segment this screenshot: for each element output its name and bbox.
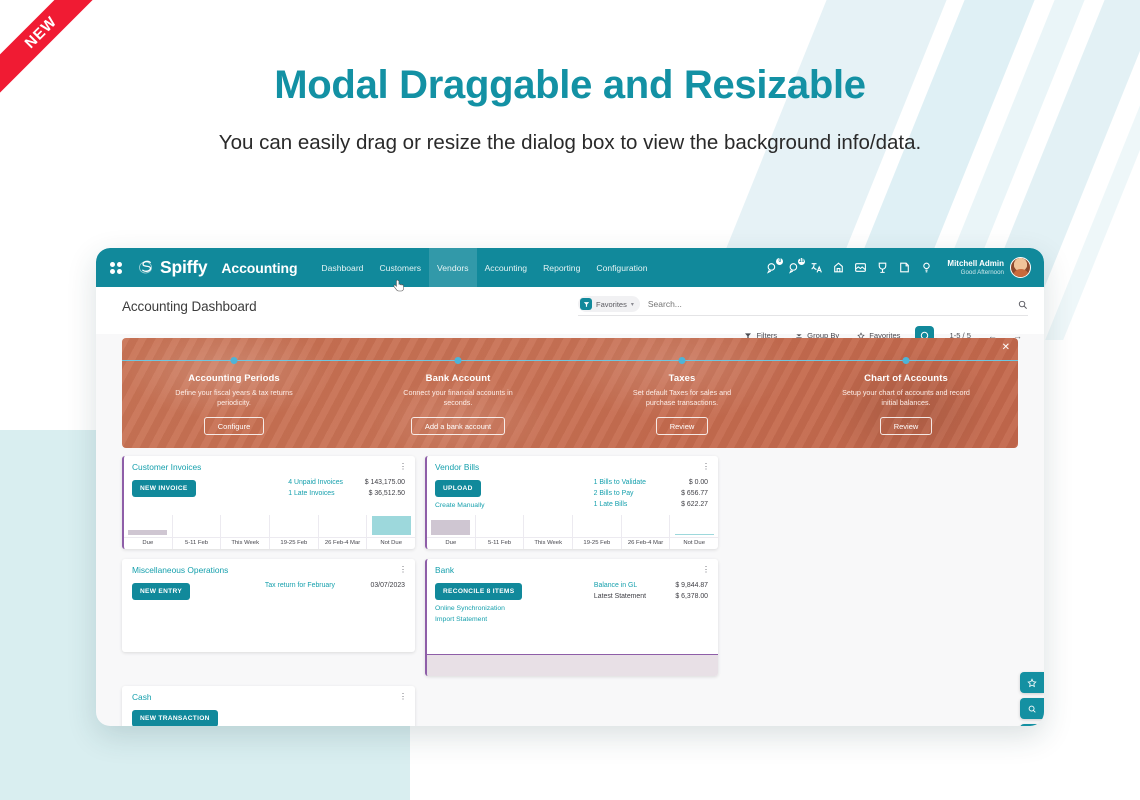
kebab-menu-icon[interactable]: ⋮ [399, 567, 407, 573]
review-chart-of-accounts-button[interactable]: Review [880, 417, 933, 435]
step-description: Setup your chart of accounts and record … [842, 388, 970, 408]
nav-item-accounting[interactable]: Accounting [477, 248, 536, 287]
chart-x-label: 26 Feb-4 Mar [622, 537, 670, 549]
onboarding-step-accounting-periods: Accounting Periods Define your fiscal ye… [122, 338, 346, 435]
card-header: Miscellaneous Operations ⋮ [124, 559, 415, 575]
stat-labels: 1 Bills to Validate 2 Bills to Pay 1 Lat… [594, 477, 646, 512]
kebab-menu-icon[interactable]: ⋮ [399, 464, 407, 470]
stat-labels: 4 Unpaid Invoices 1 Late Invoices [288, 477, 343, 499]
onboarding-step-taxes: Taxes Set default Taxes for sales and pu… [570, 338, 794, 435]
messages-icon[interactable]: 0 [766, 261, 779, 274]
search-input[interactable] [648, 299, 1017, 309]
create-manually-link[interactable]: Create Manually [435, 501, 485, 512]
reconcile-items-button[interactable]: RECONCILE 8 ITEMS [435, 583, 522, 600]
chart-bank-balance [427, 654, 718, 676]
user-text: Mitchell Admin Good Afternoon [947, 259, 1004, 275]
chart-x-label: Not Due [367, 537, 415, 549]
breadcrumb-row: Accounting Dashboard Favorites ▾ [122, 296, 1028, 316]
step-description: Set default Taxes for sales and purchase… [618, 388, 746, 408]
chart-column: 5-11 Feb [476, 515, 525, 549]
review-taxes-button[interactable]: Review [656, 417, 709, 435]
card-cash: Cash ⋮ NEW TRANSACTION [122, 686, 415, 726]
kebab-menu-icon[interactable]: ⋮ [702, 464, 710, 470]
user-name: Mitchell Admin [947, 259, 1004, 268]
stat-value: $ 622.27 [656, 499, 708, 510]
card-stats: Balance in GL Latest Statement $ 9,844.8… [594, 580, 710, 625]
chart-column: 5-11 Feb [173, 515, 222, 549]
stat-value: $ 6,378.00 [656, 591, 708, 602]
step-dot-icon [455, 357, 462, 364]
chart-x-label: 26 Feb-4 Mar [319, 537, 367, 549]
chart-column: 26 Feb-4 Mar [319, 515, 368, 549]
chart-column: Due [427, 515, 476, 549]
stat-label[interactable]: 2 Bills to Pay [594, 488, 646, 499]
card-stats: Tax return for February 03/07/2023 [265, 580, 407, 600]
chart-x-label: 5-11 Feb [476, 537, 524, 549]
search-bar[interactable]: Favorites ▾ [578, 296, 1028, 316]
card-bank: Bank ⋮ RECONCILE 8 ITEMS Online Synchron… [425, 559, 718, 676]
card-stats: 1 Bills to Validate 2 Bills to Pay 1 Lat… [594, 477, 710, 512]
card-title: Cash [132, 692, 152, 702]
spiffy-mark-icon [136, 258, 155, 277]
stat-values: $ 143,175.00 $ 36,512.50 [353, 477, 405, 499]
headline-block: Modal Draggable and Resizable You can ea… [0, 62, 1140, 157]
note-icon[interactable] [898, 261, 911, 274]
step-description: Define your fiscal years & tax returns p… [170, 388, 298, 408]
search-icon[interactable] [1020, 698, 1044, 719]
card-header: Vendor Bills ⋮ [427, 456, 718, 472]
card-header: Cash ⋮ [124, 686, 415, 702]
card-body: NEW ENTRY Tax return for February 03/07/… [124, 575, 415, 600]
stat-values: $ 0.00 $ 656.77 $ 622.27 [656, 477, 708, 512]
card-header: Bank ⋮ [427, 559, 718, 575]
stat-label[interactable]: Tax return for February [265, 580, 335, 591]
stat-value: $ 9,844.87 [656, 580, 708, 591]
upload-button[interactable]: UPLOAD [435, 480, 481, 497]
avatar[interactable] [1010, 257, 1031, 278]
stat-label[interactable]: 4 Unpaid Invoices [288, 477, 343, 488]
favorites-facet-label: Favorites [596, 300, 627, 309]
chart-column: This Week [524, 515, 573, 549]
card-body: UPLOAD Create Manually 1 Bills to Valida… [427, 472, 718, 512]
stat-value: $ 0.00 [656, 477, 708, 488]
step-description: Connect your financial accounts in secon… [394, 388, 522, 408]
chart-column: Due [124, 515, 173, 549]
stat-labels: Tax return for February [265, 580, 335, 600]
step-title: Bank Account [346, 373, 570, 384]
stat-values: $ 9,844.87 $ 6,378.00 [656, 580, 708, 625]
messages-badge: 0 [776, 258, 783, 265]
stat-value: $ 36,512.50 [353, 488, 405, 499]
grid-apps-icon[interactable] [110, 262, 123, 274]
card-title: Bank [435, 565, 454, 575]
side-action-rail [1020, 672, 1044, 726]
image-icon[interactable] [854, 261, 867, 274]
star-icon[interactable] [1020, 672, 1044, 693]
close-icon[interactable]: ✕ [1002, 343, 1010, 353]
chart-column: 26 Feb-4 Mar [622, 515, 671, 549]
control-bar: Accounting Dashboard Favorites ▾ [96, 287, 1044, 334]
chart-x-label: 5-11 Feb [173, 537, 221, 549]
chart-x-label: 19-25 Feb [270, 537, 318, 549]
top-navbar: Spiffy Accounting Dashboard Customers Ve… [96, 248, 1044, 287]
bulb-icon[interactable] [920, 261, 933, 274]
chart-x-label: Not Due [670, 537, 718, 549]
favorites-facet-chip[interactable]: Favorites ▾ [578, 296, 640, 312]
new-ribbon: NEW [0, 0, 118, 118]
navbar-right-icons: 0 10 [766, 257, 1040, 278]
dashboard-cards: Customer Invoices ⋮ NEW INVOICE 4 Unpaid… [122, 456, 1018, 726]
new-entry-button[interactable]: NEW ENTRY [132, 583, 190, 600]
user-menu[interactable]: Mitchell Admin Good Afternoon [947, 257, 1031, 278]
chart-x-label: This Week [524, 537, 572, 549]
card-sublinks: Online Synchronization Import Statement [435, 604, 522, 625]
nav-item-customers[interactable]: Customers [371, 248, 429, 287]
stat-value: $ 143,175.00 [353, 477, 405, 488]
add-bank-account-button[interactable]: Add a bank account [411, 417, 505, 435]
chat-icon[interactable]: 10 [788, 261, 801, 274]
card-title: Customer Invoices [132, 462, 201, 472]
step-title: Chart of Accounts [794, 373, 1018, 384]
nav-item-reporting[interactable]: Reporting [535, 248, 588, 287]
onboarding-step-chart-of-accounts: Chart of Accounts Setup your chart of ac… [794, 338, 1018, 435]
card-stats: 4 Unpaid Invoices 1 Late Invoices $ 143,… [288, 477, 407, 499]
stat-label[interactable]: 1 Late Bills [594, 499, 646, 510]
nav-menu: Dashboard Customers Vendors Accounting R… [313, 248, 655, 287]
chart-column: 19-25 Feb [270, 515, 319, 549]
step-dot-icon [679, 357, 686, 364]
card-body: NEW INVOICE 4 Unpaid Invoices 1 Late Inv… [124, 472, 415, 499]
nav-item-dashboard[interactable]: Dashboard [313, 248, 371, 287]
search-icon[interactable] [1017, 299, 1028, 310]
app-window: Spiffy Accounting Dashboard Customers Ve… [96, 248, 1044, 726]
expand-icon[interactable] [1020, 724, 1044, 726]
card-title: Vendor Bills [435, 462, 479, 472]
app-name: Accounting [221, 260, 297, 276]
card-header: Customer Invoices ⋮ [124, 456, 415, 472]
card-sublinks: Create Manually [435, 501, 485, 512]
stat-label: Latest Statement [594, 591, 646, 602]
translate-icon[interactable] [810, 261, 823, 274]
chart-column: Not Due [367, 515, 415, 549]
step-dot-icon [903, 357, 910, 364]
card-miscellaneous-operations: Miscellaneous Operations ⋮ NEW ENTRY Tax… [122, 559, 415, 652]
trophy-icon[interactable] [876, 261, 889, 274]
step-title: Taxes [570, 373, 794, 384]
online-synchronization-link[interactable]: Online Synchronization [435, 604, 522, 615]
chart-x-label: Due [427, 537, 475, 549]
chart-customer-invoices-aging: Due 5-11 Feb This Week 19-25 Feb 26 Feb-… [124, 515, 415, 549]
page-title: Modal Draggable and Resizable [0, 62, 1140, 109]
chart-x-label: This Week [221, 537, 269, 549]
chart-x-label: Due [124, 537, 172, 549]
user-greeting: Good Afternoon [947, 269, 1004, 276]
chart-column: This Week [221, 515, 270, 549]
card-body: NEW TRANSACTION [124, 702, 415, 726]
banner-steps: Accounting Periods Define your fiscal ye… [122, 338, 1018, 448]
step-dot-icon [231, 357, 238, 364]
stat-value: $ 656.77 [656, 488, 708, 499]
chart-column: Not Due [670, 515, 718, 549]
stat-labels: Balance in GL Latest Statement [594, 580, 646, 625]
stat-values: 03/07/2023 [353, 580, 405, 600]
card-title: Miscellaneous Operations [132, 565, 228, 575]
brand-name: Spiffy [160, 257, 207, 278]
nav-item-vendors[interactable]: Vendors [429, 248, 477, 287]
chart-column: 19-25 Feb [573, 515, 622, 549]
kebab-menu-icon[interactable]: ⋮ [399, 694, 407, 700]
stat-value: 03/07/2023 [353, 580, 405, 591]
new-ribbon-label: NEW [0, 0, 104, 95]
filter-funnel-icon [580, 298, 592, 310]
configure-button[interactable]: Configure [204, 417, 265, 435]
chevron-down-icon[interactable]: ▾ [631, 301, 634, 308]
chart-x-label: 19-25 Feb [573, 537, 621, 549]
new-transaction-button[interactable]: NEW TRANSACTION [132, 710, 218, 726]
new-invoice-button[interactable]: NEW INVOICE [132, 480, 196, 497]
stat-label[interactable]: 1 Late Invoices [288, 488, 343, 499]
onboarding-banner: Accounting Periods Define your fiscal ye… [122, 338, 1018, 448]
nav-item-configuration[interactable]: Configuration [588, 248, 655, 287]
brand-logo[interactable]: Spiffy [136, 257, 207, 278]
card-customer-invoices: Customer Invoices ⋮ NEW INVOICE 4 Unpaid… [122, 456, 415, 549]
import-statement-link[interactable]: Import Statement [435, 615, 522, 626]
stat-label[interactable]: 1 Bills to Validate [594, 477, 646, 488]
page-subtitle: You can easily drag or resize the dialog… [0, 128, 1140, 157]
onboarding-step-bank-account: Bank Account Connect your financial acco… [346, 338, 570, 435]
step-title: Accounting Periods [122, 373, 346, 384]
kebab-menu-icon[interactable]: ⋮ [702, 567, 710, 573]
page-root: NEW Modal Draggable and Resizable You ca… [0, 0, 1140, 800]
card-vendor-bills: Vendor Bills ⋮ UPLOAD Create Manually 1 … [425, 456, 718, 549]
stat-label[interactable]: Balance in GL [594, 580, 646, 591]
tag-icon[interactable] [832, 261, 845, 274]
breadcrumb: Accounting Dashboard [122, 299, 257, 314]
chat-badge: 10 [798, 258, 806, 265]
card-body: RECONCILE 8 ITEMS Online Synchronization… [427, 575, 718, 625]
chart-vendor-bills-aging: Due 5-11 Feb This Week 19-25 Feb 26 Feb-… [427, 515, 718, 549]
